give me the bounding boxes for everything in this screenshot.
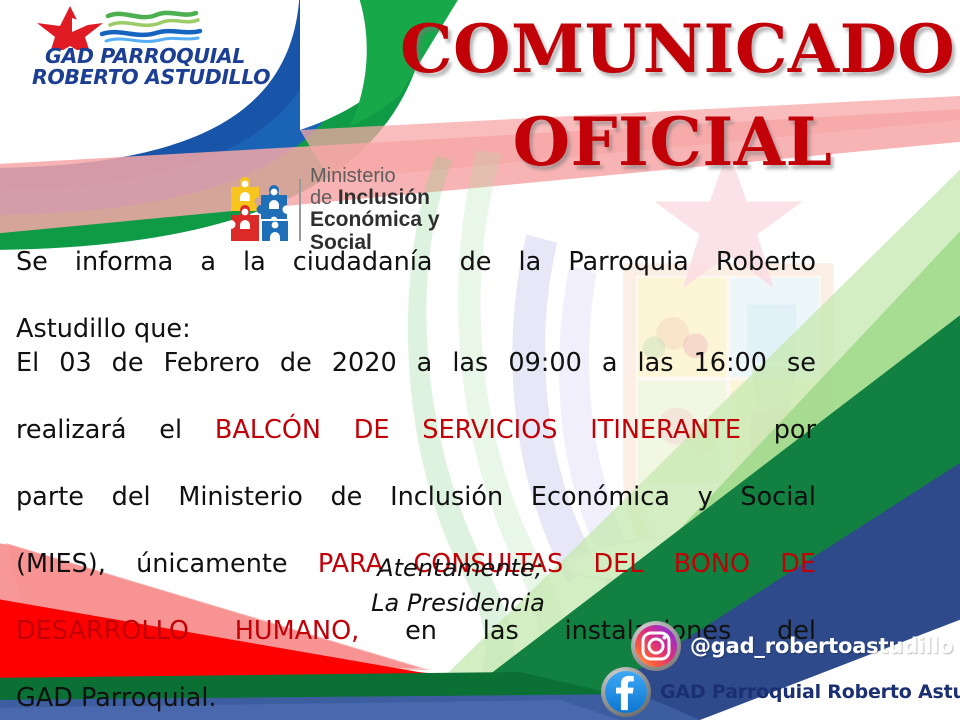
body-line-2: Astudillo que: — [16, 313, 816, 347]
gad-logo-text: GAD PARROQUIAL ROBERTO ASTUDILLO — [32, 46, 258, 87]
ministry-logo: Ministerio de Inclusión Económica y Soci… — [228, 170, 500, 250]
facebook-row[interactable]: GAD Parroquial Roberto Astudillo — [600, 666, 960, 718]
ministry-logo-text: Ministerio de Inclusión Económica y Soci… — [310, 166, 500, 255]
signature-name: La Presidencia — [326, 586, 590, 621]
facebook-icon[interactable] — [600, 666, 652, 718]
title-line-1: COMUNICADO — [400, 18, 945, 81]
poster-canvas: ROBERTO — [0, 0, 960, 720]
ministry-line-2-bold: Inclusión — [338, 186, 430, 209]
gad-logo-line2: ROBERTO ASTUDILLO — [32, 67, 258, 88]
body-line-5: parte del Ministerio de Inclusión Económ… — [16, 481, 816, 548]
highlight-balcon-servicios: BALCÓN DE SERVICIOS ITINERANTE — [215, 415, 741, 445]
facebook-page-name[interactable]: GAD Parroquial Roberto Astudillo — [660, 681, 960, 703]
body-line-3: El 03 de Febrero de 2020 a las 09:00 a l… — [16, 347, 816, 414]
ministry-logo-divider — [299, 179, 301, 241]
body-line-4-pre: realizará el — [16, 415, 215, 445]
signature-salutation: Atentamente; — [330, 551, 590, 586]
ministry-line-1: Ministerio — [310, 166, 500, 187]
highlight-desarrollo-humano: DESARROLLO HUMANO, — [16, 616, 359, 646]
gad-logo: GAD PARROQUIAL ROBERTO ASTUDILLO — [28, 4, 258, 104]
body-line-1: Se informa a la ciudadanía de la Parroqu… — [16, 246, 816, 313]
puzzle-people-icon — [228, 175, 290, 245]
body-line-6-pre: (MIES), únicamente — [16, 549, 318, 579]
wave-lines-icon — [102, 13, 200, 42]
ministry-line-2: de Inclusión — [310, 187, 500, 209]
page-title: COMUNICADO OFICIAL — [400, 18, 945, 175]
signature-block: Atentamente; La Presidencia — [330, 551, 590, 621]
body-line-4-post: por — [741, 415, 816, 445]
instagram-icon[interactable] — [630, 620, 682, 672]
social-footer: @gad_robertoastudillo GAD Parroquial Rob… — [600, 618, 960, 720]
body-line-4: realizará el BALCÓN DE SERVICIOS ITINERA… — [16, 414, 816, 481]
instagram-handle[interactable]: @gad_robertoastudillo — [690, 634, 953, 658]
instagram-row[interactable]: @gad_robertoastudillo — [630, 620, 953, 672]
ministry-line-2-light: de — [310, 187, 338, 209]
